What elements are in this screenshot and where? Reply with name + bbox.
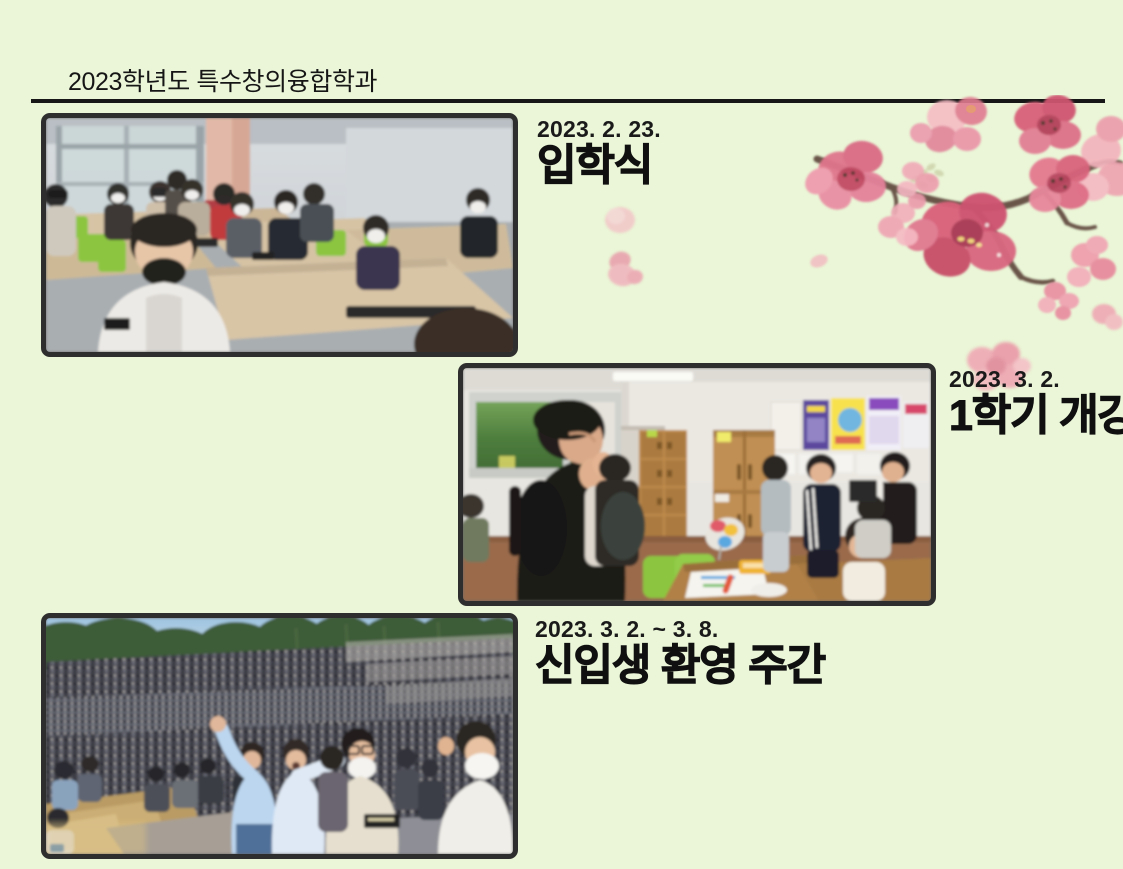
caption-heading: 신입생 환영 주간 (535, 642, 825, 690)
page-title: 2023학년도 특수창의융합학과 (68, 62, 377, 98)
caption-semester-start: 2023. 3. 2. 1학기 개강 (949, 366, 1123, 441)
slide-root: 2023학년도 특수창의융합학과 (0, 0, 1123, 869)
caption-date: 2023. 3. 2. ~ 3. 8. (535, 616, 825, 642)
photo-entrance-ceremony[interactable] (41, 113, 518, 357)
falling-petal-icon (1090, 300, 1123, 334)
caption-date: 2023. 3. 2. (949, 366, 1123, 392)
photo-semester-start[interactable] (458, 363, 936, 606)
caption-heading: 입학식 (537, 142, 661, 190)
falling-petal-icon (806, 248, 832, 274)
header-divider (31, 99, 1105, 103)
caption-freshman-welcome-week: 2023. 3. 2. ~ 3. 8. 신입생 환영 주간 (535, 616, 825, 691)
cherry-blossom-branch-icon (795, 95, 1123, 345)
caption-heading: 1학기 개강 (949, 392, 1123, 440)
caption-entrance-ceremony: 2023. 2. 23. 입학식 (537, 116, 661, 191)
caption-date: 2023. 2. 23. (537, 116, 661, 142)
falling-petal-icon (600, 200, 640, 240)
photo-freshman-welcome-week[interactable] (41, 613, 518, 859)
falling-petal-icon (602, 245, 648, 291)
